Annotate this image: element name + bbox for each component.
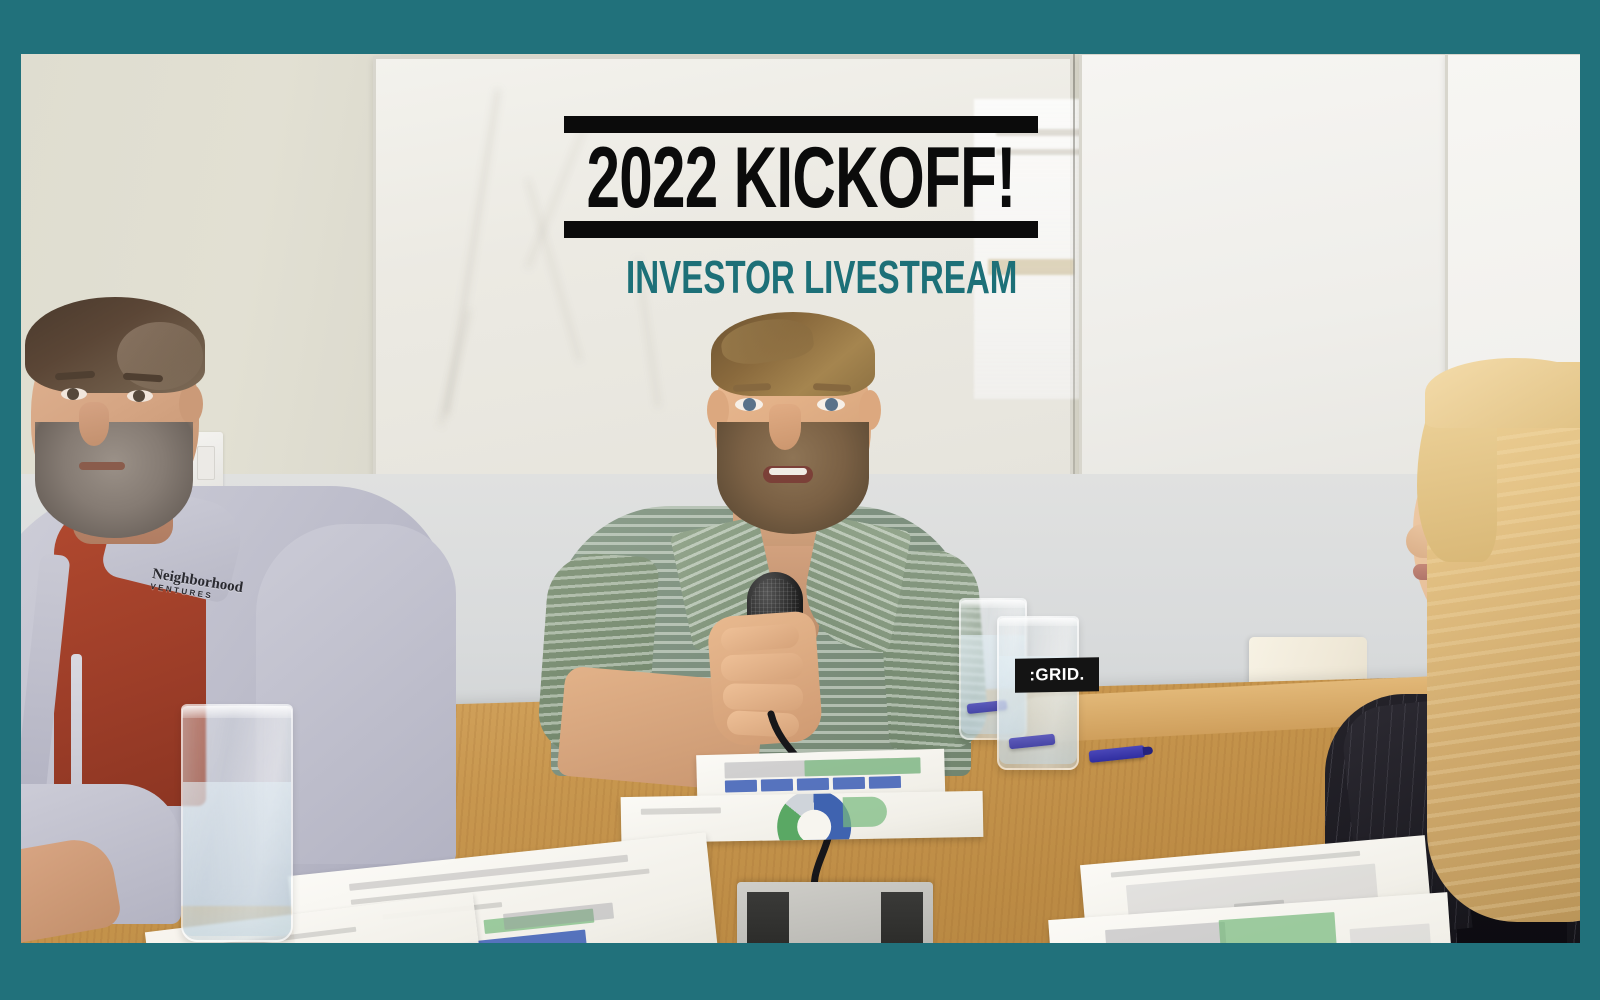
light-switch-button[interactable] [197,446,215,480]
grid-label: :GRID. [1015,657,1099,692]
screenshot-stage: Neighborhood VENTURES [0,0,1600,1000]
board-seam-1 [1073,54,1075,490]
video-frame[interactable]: Neighborhood VENTURES [21,54,1580,943]
audio-console[interactable] [737,882,933,943]
whiteboard-panel-center [1079,54,1451,488]
left-panelist-beard [35,422,193,538]
water-glass-left[interactable] [181,704,293,942]
